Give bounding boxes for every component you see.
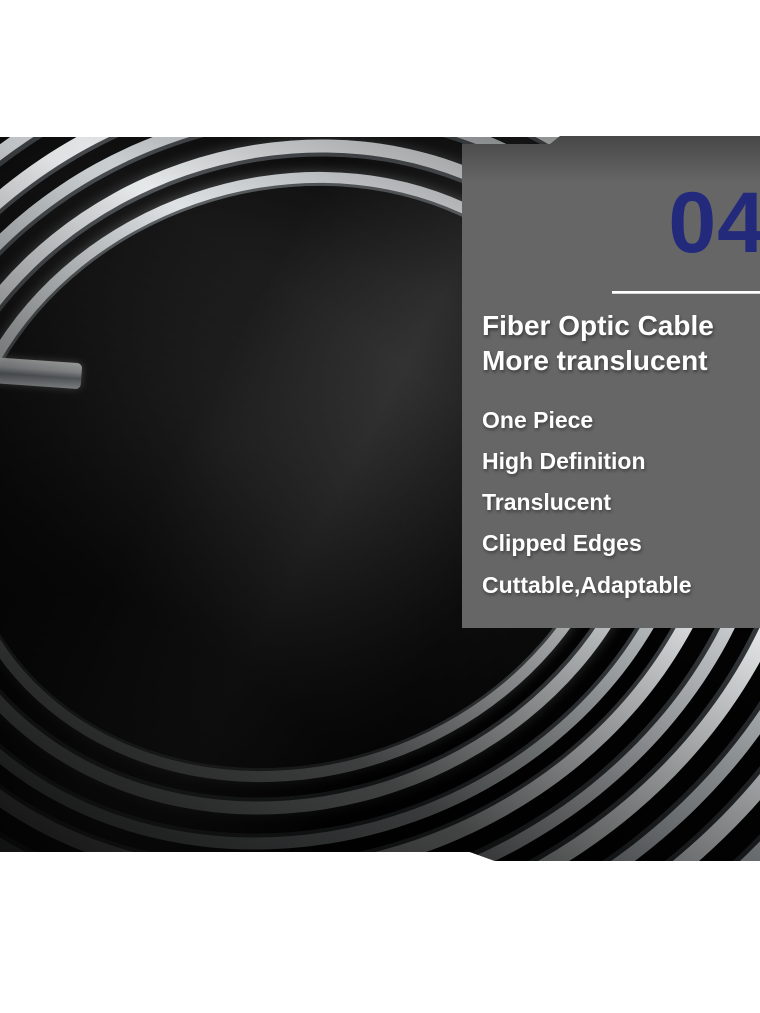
list-item: Translucent [482,482,760,523]
list-item: One Piece [482,400,760,441]
feature-list: One Piece High Definition Translucent Cl… [482,400,760,606]
list-item: High Definition [482,441,760,482]
panel-headline: Fiber Optic Cable More translucent [482,308,760,379]
headline-line-1: Fiber Optic Cable [482,308,760,343]
headline-line-2: More translucent [482,343,760,378]
list-item: Clipped Edges [482,523,760,564]
info-panel: 04 Fiber Optic Cable More translucent On… [462,136,760,628]
list-item: Cuttable,Adaptable [482,565,760,606]
panel-step-number: 04 [668,180,760,266]
panel-divider [612,291,760,294]
product-image-canvas: 04 Fiber Optic Cable More translucent On… [0,0,760,1013]
